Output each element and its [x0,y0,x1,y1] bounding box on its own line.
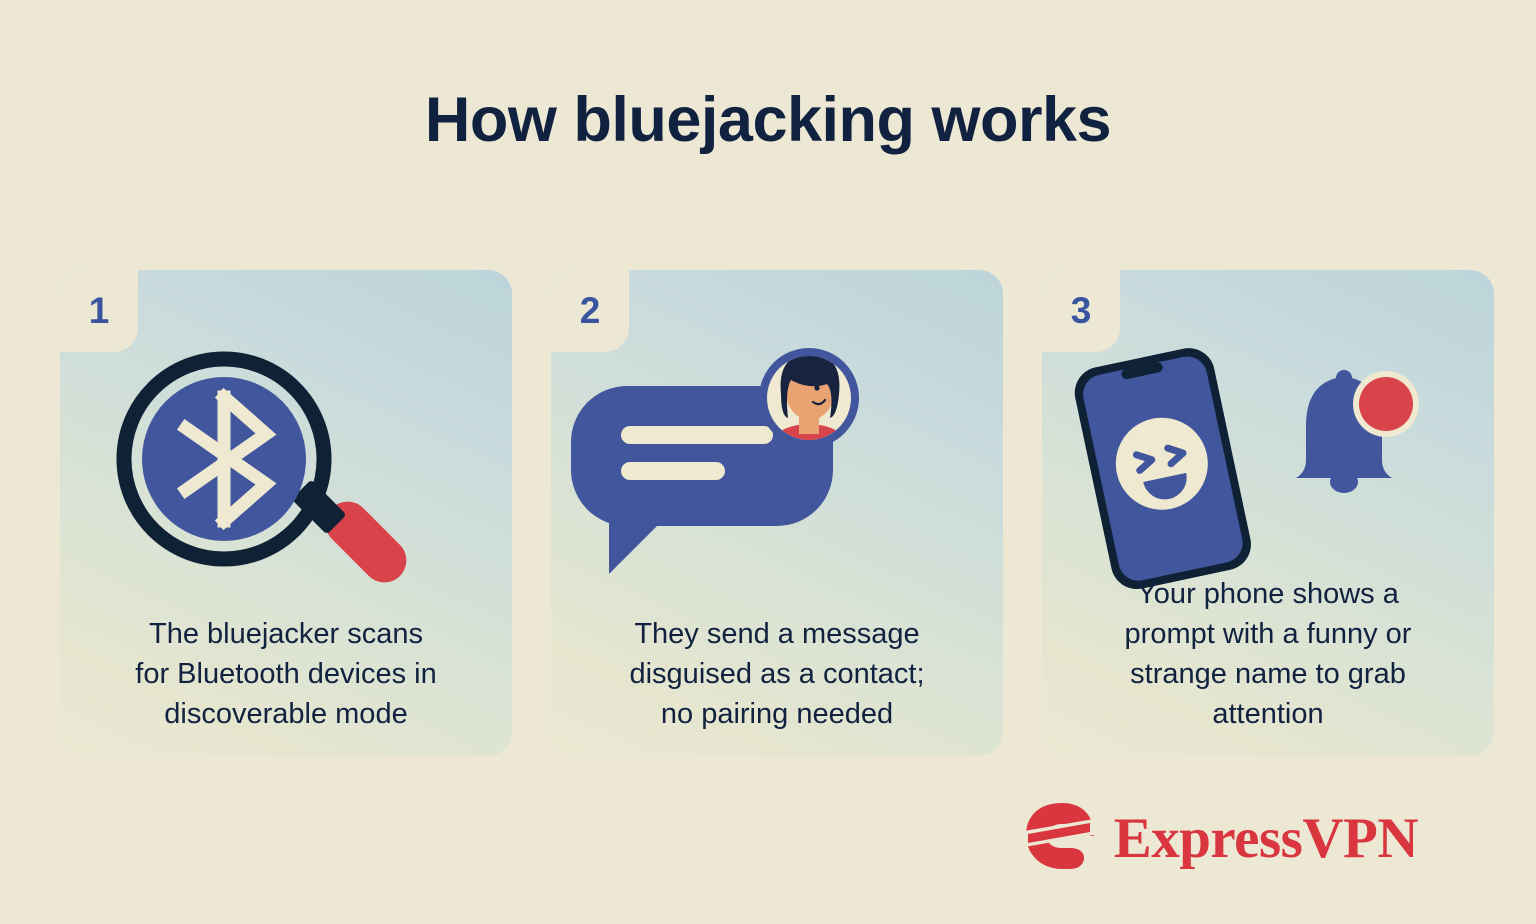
step-number-1: 1 [89,292,110,329]
step-caption-3: Your phone shows a prompt with a funny o… [1064,574,1472,734]
page-title: How bluejacking works [0,86,1536,155]
step-caption-2: They send a message disguised as a conta… [573,614,981,734]
steps-container: 1 The bluejac [60,270,1494,756]
step-card-2: 2 [551,270,1003,756]
step-card-1: 1 The bluejac [60,270,512,756]
step-badge-3: 3 [1042,270,1120,352]
step-badge-1: 1 [60,270,138,352]
step-badge-2: 2 [551,270,629,352]
step-caption-1: The bluejacker scans for Bluetooth devic… [82,614,490,734]
bluetooth-magnifier-icon [60,342,512,602]
phone-notification-bell-icon [1042,342,1494,602]
brand-wordmark: ExpressVPN [1114,810,1418,867]
brand-logo: ExpressVPN [1022,801,1418,876]
step-number-2: 2 [580,292,601,329]
step-number-3: 3 [1071,292,1092,329]
step-card-3: 3 [1042,270,1494,756]
expressvpn-e-mark-icon [1022,801,1096,876]
message-bubble-avatar-icon [551,342,1003,602]
